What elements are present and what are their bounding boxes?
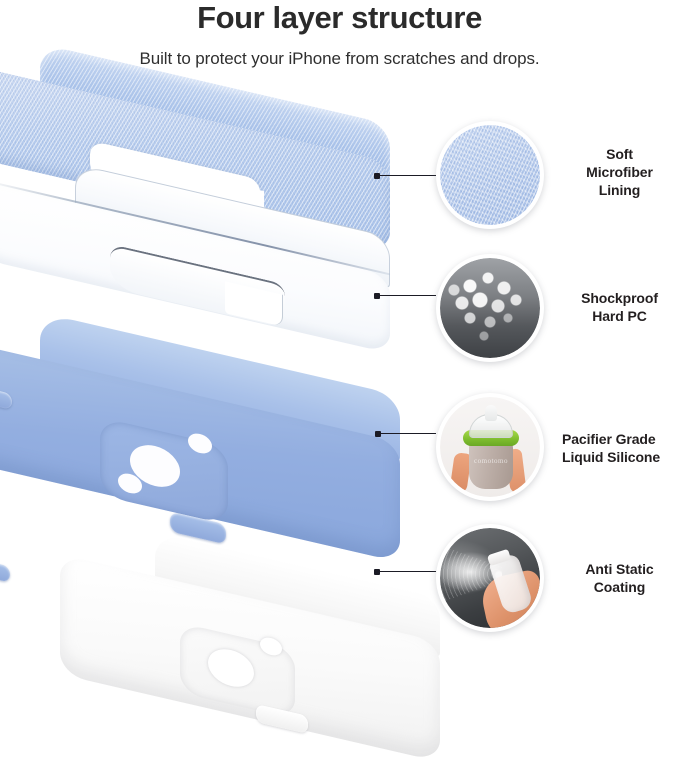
label-line-2: Hard PC [560,307,679,325]
connector-line-silicone [375,428,436,440]
product-layer-stack [0,88,430,685]
connector-stroke-microfiber [379,175,436,176]
callout-circle-microfiber [436,121,544,229]
bottle-brand-text: comotomo [473,457,509,465]
bottle-silicone-nipple [485,405,497,421]
label-line-2: Microfiber [560,163,679,181]
callout-circle-hard-pc [436,254,544,362]
connector-line-microfiber [374,170,436,182]
callout-pacifier-grade-liquid-silicone: comotomo [436,393,544,501]
label-shockproof-hard-pc: Shockproof Hard PC [560,289,679,325]
label-line-1: Shockproof [560,289,679,307]
callout-anti-static-coating [436,524,544,632]
label-line-3: Lining [560,181,679,199]
bottle-body [469,441,513,489]
microfiber-texture-swatch [440,125,540,225]
connector-stroke-anti-static [379,571,436,572]
baby-bottle-swatch: comotomo [440,397,540,497]
label-line-2: Liquid Silicone [562,448,679,466]
label-soft-microfiber-lining: Soft Microfiber Lining [560,145,679,199]
connector-stroke-silicone [380,433,436,434]
label-line-1: Pacifier Grade [562,430,679,448]
callout-soft-microfiber-lining [436,121,544,229]
connector-line-anti-static [374,566,436,578]
infographic-page: Four layer structure Built to protect yo… [0,0,679,685]
label-line-1: Anti Static [560,560,679,578]
label-pacifier-grade-liquid-silicone: Pacifier Grade Liquid Silicone [562,430,679,466]
label-line-2: Coating [560,578,679,596]
silicone-mute-switch [0,557,10,582]
callout-circle-anti-static [436,524,544,632]
spray-mist-swatch [440,528,540,628]
label-anti-static-coating: Anti Static Coating [560,560,679,596]
pc-granules-swatch [440,258,540,358]
label-line-1: Soft [560,145,679,163]
anti-static-coating-layer [60,558,440,773]
callout-shockproof-hard-pc [436,254,544,362]
connector-line-hard-pc [374,290,436,302]
page-title: Four layer structure [0,0,679,38]
callout-circle-silicone: comotomo [436,393,544,501]
connector-stroke-hard-pc [379,295,436,296]
